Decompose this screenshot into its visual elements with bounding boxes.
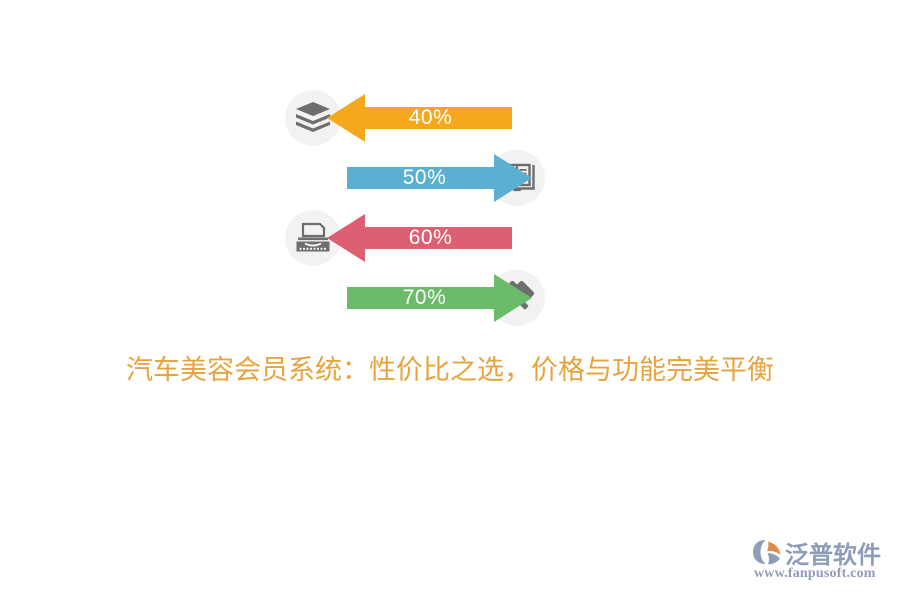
poster-canvas: 40% <box>0 0 900 600</box>
arrow-infographic: 40% <box>285 88 575 348</box>
arrow-percent-label: 50% <box>347 154 532 202</box>
arrow-percent-label: 40% <box>327 94 512 142</box>
infographic-row: 40% <box>285 88 575 148</box>
arrow-shape-50: 50% <box>347 154 532 202</box>
infographic-row: 70% <box>285 268 575 328</box>
brand-lockup: 泛普软件 <box>752 536 881 568</box>
arrow-shape-60: 60% <box>327 214 512 262</box>
arrow-shape-40: 40% <box>327 94 512 142</box>
brand-name: 泛普软件 <box>785 535 881 570</box>
arrow-shape-70: 70% <box>347 274 532 322</box>
page-title: 汽车美容会员系统：性价比之选，价格与功能完美平衡 <box>0 348 900 387</box>
brand-watermark: 泛普软件 www.fanpusoft.com <box>752 536 894 588</box>
brand-url: www.fanpusoft.com <box>754 566 876 582</box>
infographic-row: 50% <box>285 148 575 208</box>
infographic-row: 60% <box>285 208 575 268</box>
arrow-percent-label: 60% <box>327 214 512 262</box>
fanpu-sail-logo-icon <box>752 538 782 566</box>
arrow-percent-label: 70% <box>347 274 532 322</box>
